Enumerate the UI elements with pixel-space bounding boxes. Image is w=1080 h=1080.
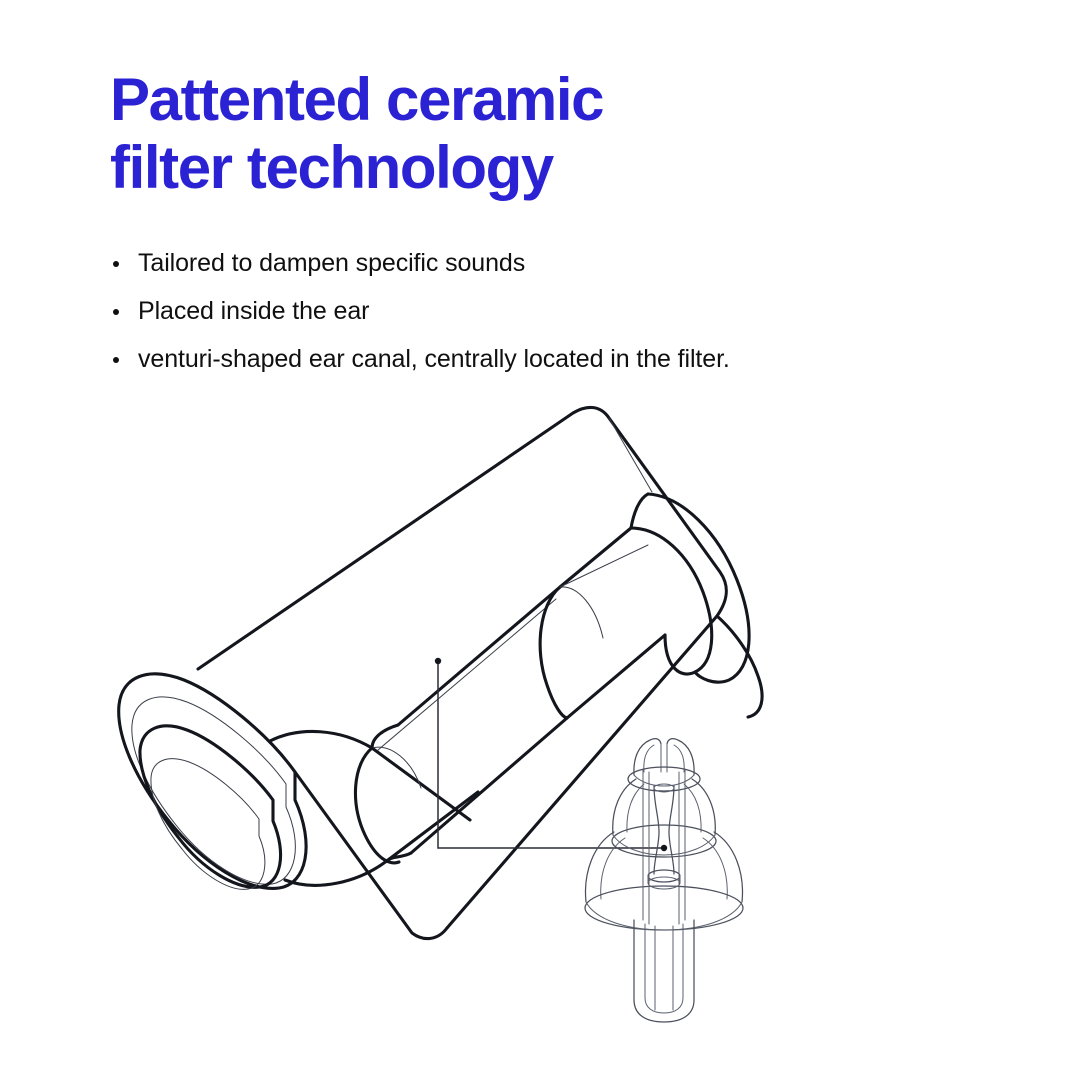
list-item-label: Tailored to dampen specific sounds: [138, 249, 525, 277]
page-title-line-2: filter technology: [110, 134, 970, 202]
page-title-line-1: Pattented ceramic: [110, 66, 970, 134]
list-item: Tailored to dampen specific sounds: [110, 248, 1010, 279]
poster-canvas: Pattented ceramic filter technology Tail…: [0, 0, 1080, 1080]
list-item: Placed inside the ear: [110, 296, 1010, 327]
bullet-dot-icon: [113, 261, 119, 267]
feature-bullet-list: Tailored to dampen specific sounds Place…: [110, 248, 1010, 392]
filter-illustration: [0, 380, 1080, 1080]
earplug-wireframe: [585, 739, 743, 1022]
list-item-label: Placed inside the ear: [138, 297, 369, 325]
page-title: Pattented ceramic filter technology: [110, 66, 970, 202]
list-item: venturi-shaped ear canal, centrally loca…: [110, 344, 1010, 375]
list-item-label: venturi-shaped ear canal, centrally loca…: [138, 345, 730, 373]
bullet-dot-icon: [113, 309, 119, 315]
bullet-dot-icon: [113, 357, 119, 363]
venturi-callout-leader: [435, 658, 667, 851]
ceramic-filter-cutaway: [119, 407, 762, 938]
